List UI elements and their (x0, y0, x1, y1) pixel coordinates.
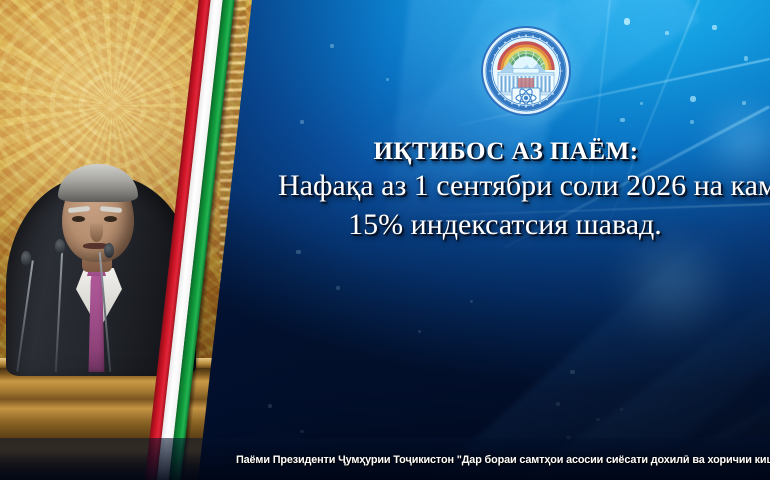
eye-right (104, 216, 117, 222)
source-caption: Паёми Президенти Ҷумҳурии Тоҷикистон "Да… (236, 454, 750, 466)
quote-line-2: 15% индексатсия шавад. (228, 205, 770, 244)
quote-heading: ИҚТИБОС АЗ ПАЁМ: (230, 138, 770, 166)
eye-left (72, 216, 85, 222)
emblem-glow (467, 12, 585, 130)
microphone-head-2 (55, 239, 65, 254)
quote-block: ИҚТИБОС АЗ ПАЁМ: Нафақа аз 1 сентябри со… (252, 138, 770, 244)
nose (90, 222, 103, 242)
poster-image: ИҚТИБОС АЗ ПАЁМ: Нафақа аз 1 сентябри со… (0, 0, 770, 480)
microphone-head-3 (104, 243, 114, 258)
emblem (481, 26, 571, 116)
microphone-head-1 (21, 251, 31, 266)
quote-line-1: Нафақа аз 1 сентябри соли 2026 на кам а (278, 166, 770, 205)
